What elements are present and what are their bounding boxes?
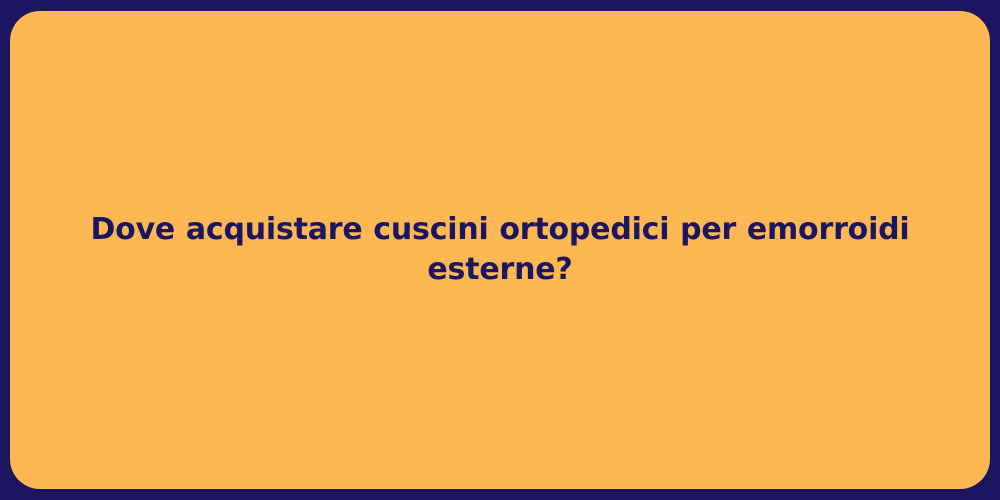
question-title: Dove acquistare cuscini ortopedici per e… — [58, 210, 942, 291]
question-card-panel: Dove acquistare cuscini ortopedici per e… — [10, 11, 990, 489]
card-background: Dove acquistare cuscini ortopedici per e… — [0, 0, 1000, 500]
